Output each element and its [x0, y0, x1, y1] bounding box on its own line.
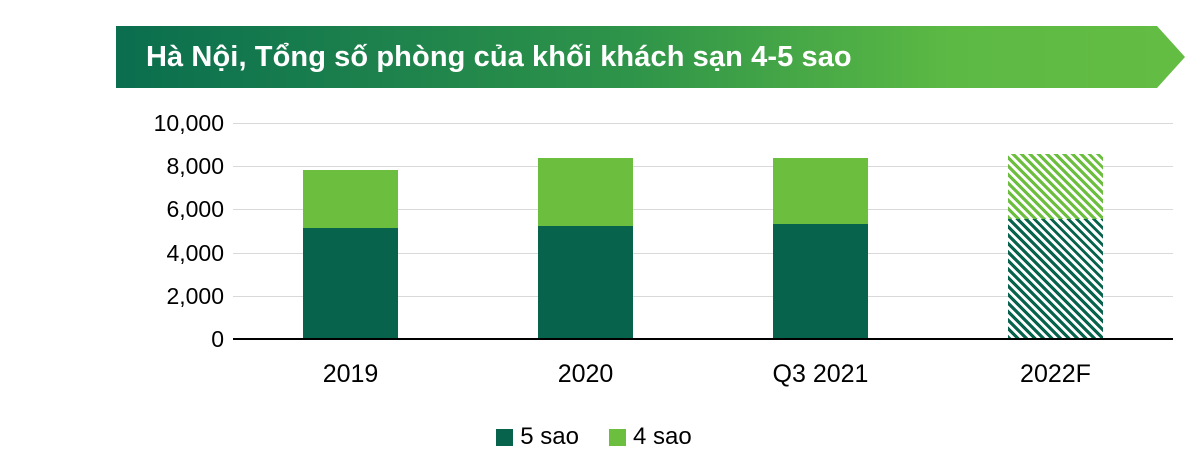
stacked-bar-chart: Số phòng 10,0008,0006,0004,0002,0000 201…: [0, 0, 1188, 462]
chart-legend: 5 sao4 sao: [0, 420, 1188, 454]
bar-segment-4-sao[interactable]: [538, 158, 633, 226]
bar-group[interactable]: [303, 170, 398, 339]
legend-label: 4 sao: [633, 423, 692, 451]
bar-segment-5-sao[interactable]: [538, 226, 633, 339]
legend-label: 5 sao: [520, 423, 579, 451]
legend-item[interactable]: 5 sao: [496, 423, 579, 451]
bar-segment-5-sao[interactable]: [773, 224, 868, 339]
bar-segment-4-sao[interactable]: [773, 158, 868, 224]
bar-group[interactable]: [1008, 154, 1103, 339]
x-axis-tick-label: Q3 2021: [703, 358, 938, 390]
legend-item[interactable]: 4 sao: [609, 423, 692, 451]
y-axis-tick-label: 8,000: [96, 153, 224, 179]
legend-swatch-icon: [609, 429, 626, 446]
y-axis-tick-label: 2,000: [96, 283, 224, 309]
gridline: [233, 123, 1173, 124]
bar-segment-5-sao[interactable]: [303, 228, 398, 339]
bar-segment-5-sao[interactable]: [1008, 219, 1103, 339]
x-axis-tick-label: 2019: [233, 358, 468, 390]
bar-segment-4-sao[interactable]: [303, 170, 398, 228]
x-axis-tick-label: 2022F: [938, 358, 1173, 390]
bar-segment-4-sao[interactable]: [1008, 154, 1103, 219]
x-axis-tick-labels: 20192020Q3 20212022F: [233, 358, 1173, 392]
y-axis-tick-label: 4,000: [96, 240, 224, 266]
x-axis-line: [233, 338, 1173, 340]
y-axis-tick-label: 10,000: [96, 110, 224, 136]
plot-area: [233, 123, 1173, 339]
bar-group[interactable]: [773, 158, 868, 339]
bar-group[interactable]: [538, 158, 633, 339]
y-axis-tick-label: 0: [96, 326, 224, 352]
legend-swatch-icon: [496, 429, 513, 446]
x-axis-tick-label: 2020: [468, 358, 703, 390]
y-axis-tick-label: 6,000: [96, 196, 224, 222]
y-axis-tick-labels: 10,0008,0006,0004,0002,0000: [96, 110, 224, 352]
